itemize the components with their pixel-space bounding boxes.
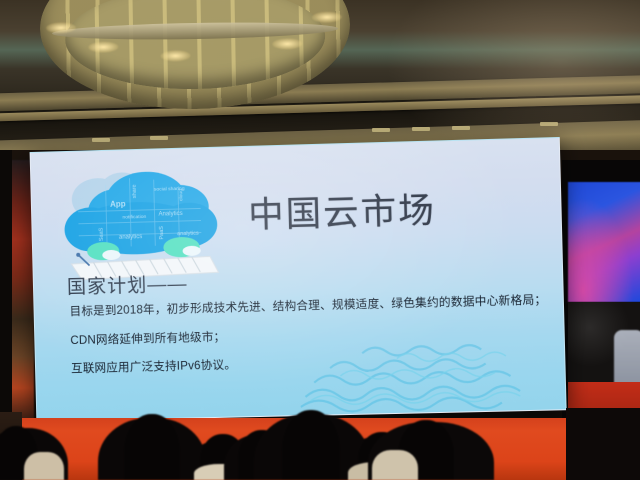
svg-text:share: share (132, 184, 138, 198)
ceiling-chandelier (39, 0, 352, 112)
svg-text:SaaS: SaaS (99, 227, 105, 241)
cloud-illustration-icon: App share social sharing cloud notificat… (57, 164, 223, 287)
svg-text:cloud: cloud (178, 189, 184, 201)
slide-section-heading: 国家计划—— (67, 269, 188, 299)
ceiling-light-strip (452, 126, 470, 130)
ceiling-light-strip (92, 138, 110, 142)
projection-screen: App share social sharing cloud notificat… (30, 137, 567, 422)
ceiling-light-strip (372, 128, 390, 132)
svg-text:Analytics: Analytics (158, 211, 182, 218)
slide-surface: App share social sharing cloud notificat… (30, 137, 567, 422)
slide-bullet: CDN网络延伸到所有地级市； (70, 322, 536, 349)
slide-bullet-list: 目标是到2018年，初步形成技术先进、结构合理、规模适度、绿色集约的数据中心新格… (69, 294, 537, 391)
ceiling-light-strip (150, 136, 168, 140)
ceiling-light-strip (412, 127, 430, 131)
slide-title: 中国云市场 (248, 182, 437, 238)
audience-member-shirt (24, 452, 64, 480)
svg-text:PaaS: PaaS (159, 226, 165, 240)
ceiling-light-strip (540, 122, 558, 126)
right-led-panel (562, 160, 640, 430)
slide-bullet: 目标是到2018年，初步形成技术先进、结构合理、规模适度、绿色集约的数据中心新格… (69, 294, 535, 321)
audience-member-shirt (372, 450, 418, 480)
conference-photo: App share social sharing cloud notificat… (0, 0, 640, 480)
svg-text:analytics: analytics (177, 231, 199, 238)
slide-bullet: 互联网应用广泛支持IPv6协议。 (71, 351, 537, 377)
left-wall-shadow (0, 150, 12, 440)
right-led-gradient (568, 182, 640, 302)
svg-text:notification: notification (122, 214, 146, 221)
svg-text:App: App (110, 199, 126, 208)
audience-member (282, 410, 340, 480)
audience-silhouettes (0, 398, 640, 480)
audience-member (124, 414, 180, 480)
